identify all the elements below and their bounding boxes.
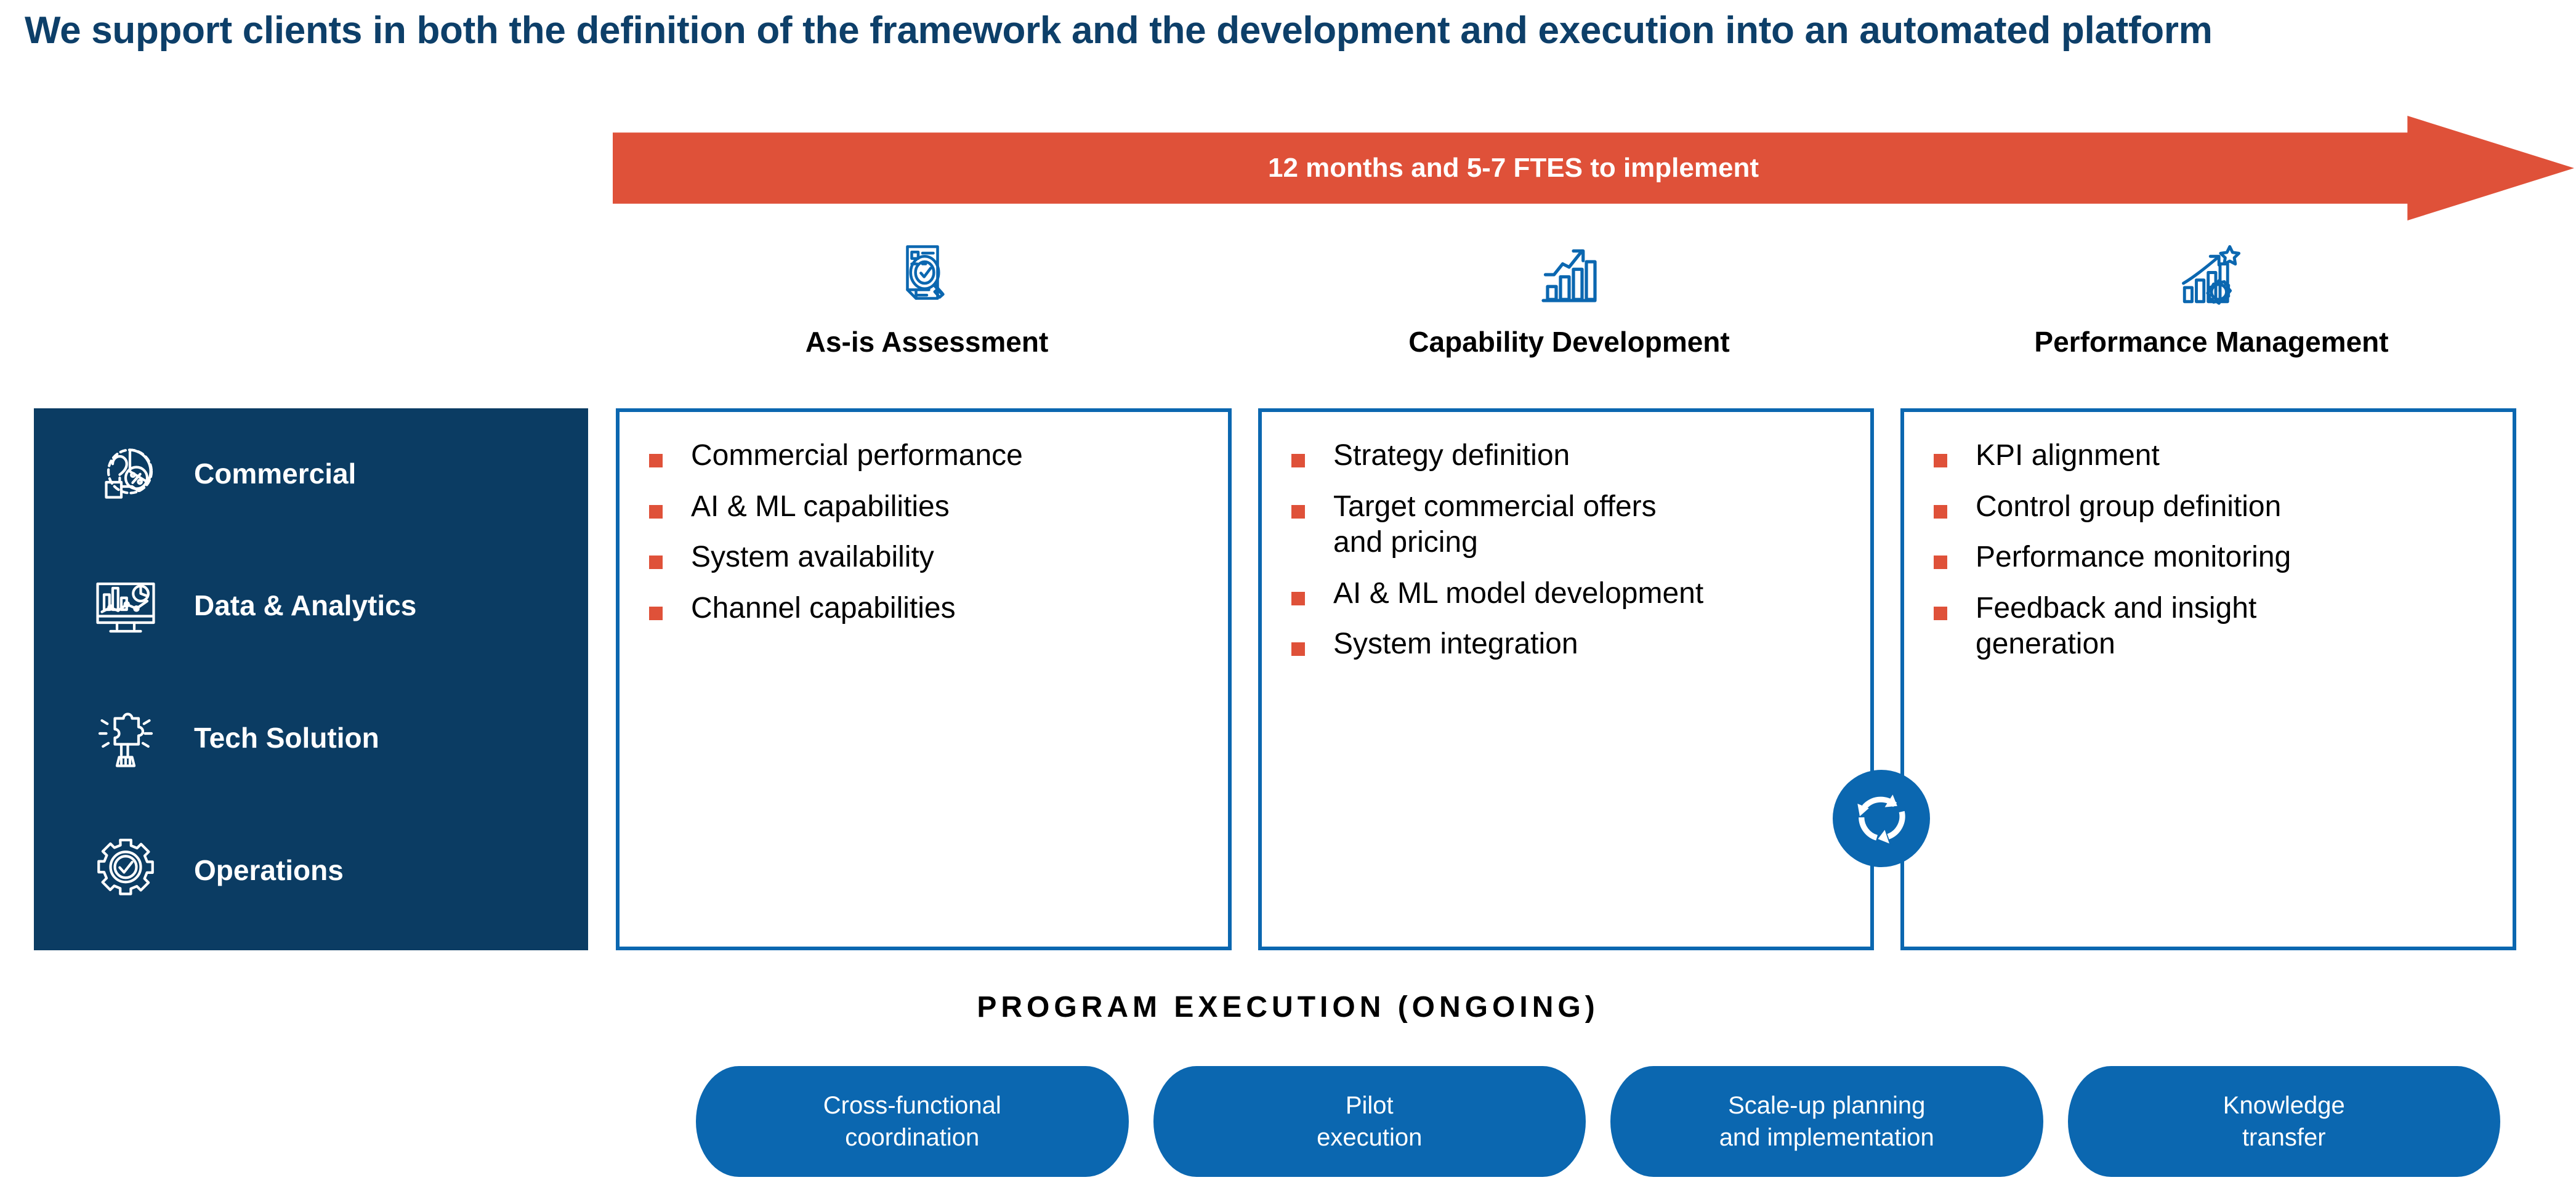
sidebar-item-data-analytics[interactable]: Data & Analytics xyxy=(89,568,416,642)
bullet-square-icon xyxy=(1291,505,1305,519)
sidebar-item-commercial[interactable]: Commercial xyxy=(89,437,356,511)
list-item: Channel capabilities xyxy=(649,591,1207,627)
sidebar-item-label: Tech Solution xyxy=(194,721,379,754)
bullet-square-icon xyxy=(649,607,663,620)
bullet-text: AI & ML capabilities xyxy=(691,489,950,525)
sidebar-item-operations[interactable]: Operations xyxy=(89,833,344,907)
program-pill-row: Cross-functionalcoordination Pilotexecut… xyxy=(696,1066,2500,1177)
gear-check-icon xyxy=(89,834,162,907)
commercial-globe-pie-icon xyxy=(89,437,162,510)
slide-canvas: We support clients in both the definitio… xyxy=(0,0,2576,1196)
content-card-performance-management: KPI alignment Control group definition P… xyxy=(1900,408,2516,950)
bullet-square-icon xyxy=(1934,505,1947,519)
content-card-capability-development: Strategy definition Target commercial of… xyxy=(1258,408,1874,950)
bullet-square-icon xyxy=(1291,592,1305,605)
list-item: Control group definition xyxy=(1934,489,2492,525)
sidebar-item-label: Data & Analytics xyxy=(194,589,416,622)
category-sidebar: Commercial Data & Analytics xyxy=(34,408,588,950)
list-item: Target commercial offers and pricing xyxy=(1291,489,1849,561)
bullet-text: Feedback and insight generation xyxy=(1976,591,2320,663)
sidebar-item-label: Commercial xyxy=(194,457,356,490)
column-title: As-is Assessment xyxy=(806,325,1049,358)
bullet-text: Channel capabilities xyxy=(691,591,956,627)
column-header-as-is-assessment: As-is Assessment xyxy=(616,235,1238,358)
column-title: Performance Management xyxy=(2034,325,2388,358)
monitor-analytics-icon xyxy=(89,569,162,642)
bullet-text: Commercial performance xyxy=(691,438,1023,474)
timeline-arrow-label: 12 months and 5-7 FTES to implement xyxy=(613,116,2414,220)
page-title: We support clients in both the definitio… xyxy=(25,9,2550,52)
bullet-square-icon xyxy=(1934,454,1947,467)
column-header-capability-development: Capability Development xyxy=(1258,235,1880,358)
column-title: Capability Development xyxy=(1408,325,1729,358)
list-item: KPI alignment xyxy=(1934,438,2492,474)
list-item: AI & ML capabilities xyxy=(649,489,1207,525)
bullet-text: System integration xyxy=(1333,626,1578,663)
list-item: System availability xyxy=(649,539,1207,576)
timeline-arrow: 12 months and 5-7 FTES to implement xyxy=(613,116,2574,220)
bullet-text: KPI alignment xyxy=(1976,438,2160,474)
program-pill[interactable]: Cross-functionalcoordination xyxy=(696,1066,1129,1177)
list-item: Performance monitoring xyxy=(1934,539,2492,576)
content-card-as-is-assessment: Commercial performance AI & ML capabilit… xyxy=(616,408,1232,950)
program-pill[interactable]: Scale-up planningand implementation xyxy=(1610,1066,2043,1177)
bullet-square-icon xyxy=(1291,454,1305,467)
bullet-text: Strategy definition xyxy=(1333,438,1570,474)
bullet-text: Performance monitoring xyxy=(1976,539,2291,576)
program-pill[interactable]: Pilotexecution xyxy=(1153,1066,1586,1177)
sidebar-item-tech-solution[interactable]: Tech Solution xyxy=(89,701,379,775)
bullet-square-icon xyxy=(1291,642,1305,656)
growth-bar-chart-arrow-icon xyxy=(1535,235,1604,309)
cycle-refresh-badge xyxy=(1833,770,1930,867)
bullet-square-icon xyxy=(649,454,663,467)
bar-chart-star-gear-icon xyxy=(2177,235,2246,309)
program-execution-label: PROGRAM EXECUTION (ONGOING) xyxy=(0,990,2576,1024)
bullet-text: Target commercial offers and pricing xyxy=(1333,489,1678,561)
list-item: System integration xyxy=(1291,626,1849,663)
sidebar-item-label: Operations xyxy=(194,854,344,887)
list-item: AI & ML model development xyxy=(1291,576,1849,612)
bullet-square-icon xyxy=(1934,607,1947,620)
program-pill[interactable]: Knowledgetransfer xyxy=(2068,1066,2501,1177)
list-item: Commercial performance xyxy=(649,438,1207,474)
bullet-square-icon xyxy=(649,556,663,569)
bullet-square-icon xyxy=(1934,556,1947,569)
bullet-square-icon xyxy=(649,505,663,519)
bullet-text: AI & ML model development xyxy=(1333,576,1703,612)
puzzle-tech-icon xyxy=(89,701,162,774)
list-item: Feedback and insight generation xyxy=(1934,591,2492,663)
bullet-text: Control group definition xyxy=(1976,489,2281,525)
document-magnifier-check-icon xyxy=(892,235,961,309)
column-header-performance-management: Performance Management xyxy=(1900,235,2522,358)
list-item: Strategy definition xyxy=(1291,438,1849,474)
bullet-text: System availability xyxy=(691,539,934,576)
